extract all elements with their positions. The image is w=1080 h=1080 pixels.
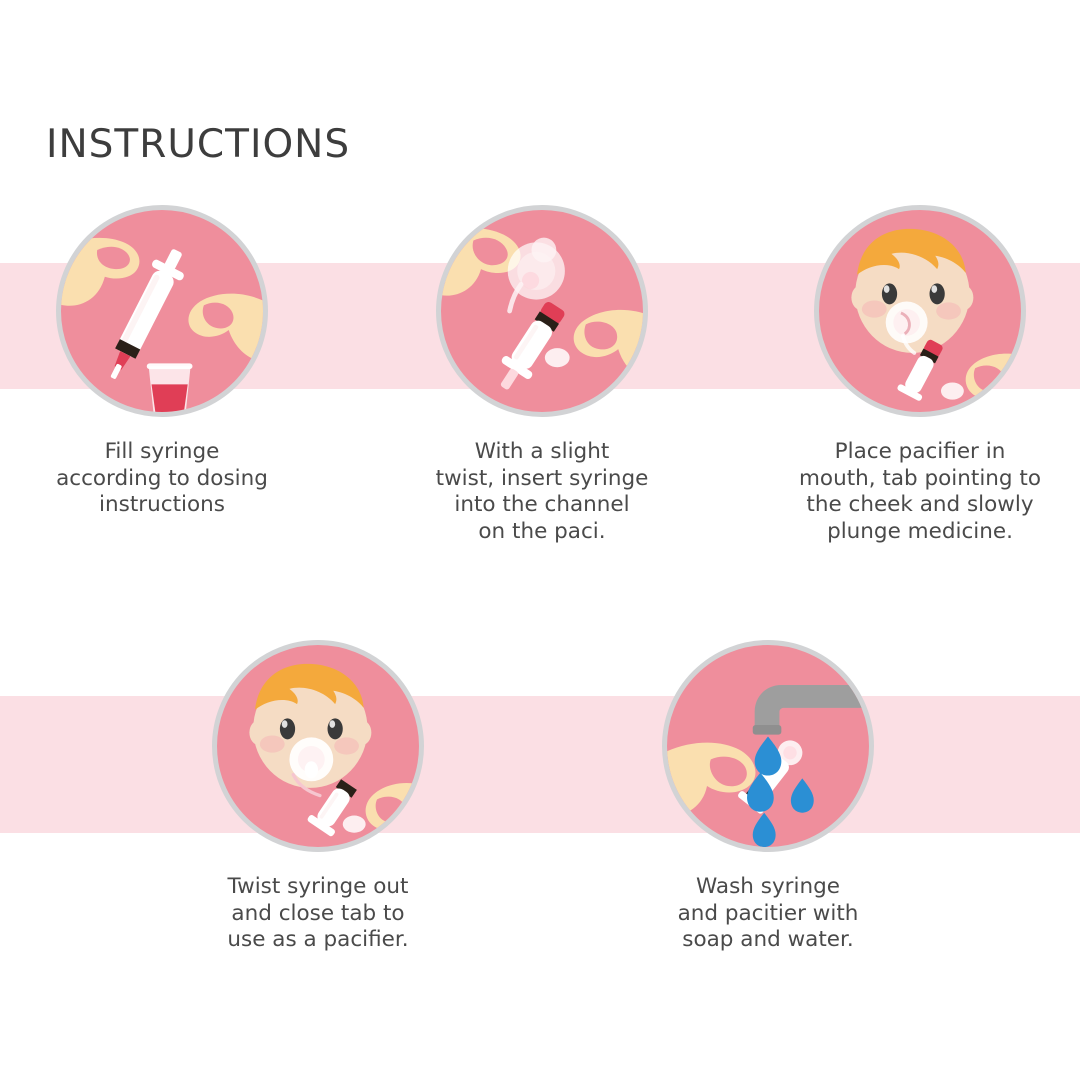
step-1-caption: Fill syringe according to dosing instruc… <box>17 439 307 519</box>
step-4-caption: Twist syringe out and close tab to use a… <box>173 874 463 954</box>
step-5-illustration <box>662 640 874 852</box>
caption-line: mouth, tab pointing to <box>775 466 1065 493</box>
caption-line: according to dosing <box>17 466 307 493</box>
page-title: INSTRUCTIONS <box>46 122 350 167</box>
baby-twist-syringe-out-icon <box>217 645 419 847</box>
step-5-caption: Wash syringe and pacitier with soap and … <box>623 874 913 954</box>
wash-under-faucet-icon <box>667 645 869 847</box>
instructions-infographic: INSTRUCTIONS <box>0 0 1080 1080</box>
caption-line: Twist syringe out <box>173 874 463 901</box>
step-4-illustration <box>212 640 424 852</box>
caption-line: With a slight <box>397 439 687 466</box>
step-3-illustration <box>814 205 1026 417</box>
caption-line: use as a pacifier. <box>173 927 463 954</box>
step-2-caption: With a slight twist, insert syringe into… <box>397 439 687 545</box>
caption-line: into the channel <box>397 492 687 519</box>
baby-pacifier-plunge-icon <box>819 210 1021 412</box>
step-1: Fill syringe according to dosing instruc… <box>12 205 312 519</box>
syringe-into-pacifier-icon <box>441 210 643 412</box>
caption-line: instructions <box>17 492 307 519</box>
caption-line: and close tab to <box>173 901 463 928</box>
step-1-illustration <box>56 205 268 417</box>
step-3-caption: Place pacifier in mouth, tab pointing to… <box>775 439 1065 545</box>
step-3: Place pacifier in mouth, tab pointing to… <box>770 205 1070 545</box>
caption-line: and pacitier with <box>623 901 913 928</box>
step-5: Wash syringe and pacitier with soap and … <box>618 640 918 954</box>
caption-line: Wash syringe <box>623 874 913 901</box>
caption-line: plunge medicine. <box>775 519 1065 546</box>
caption-line: on the paci. <box>397 519 687 546</box>
caption-line: Fill syringe <box>17 439 307 466</box>
caption-line: the cheek and slowly <box>775 492 1065 519</box>
step-2-illustration <box>436 205 648 417</box>
decorative-band-bottom <box>0 696 1080 833</box>
caption-line: Place pacifier in <box>775 439 1065 466</box>
step-2: With a slight twist, insert syringe into… <box>392 205 692 545</box>
caption-line: twist, insert syringe <box>397 466 687 493</box>
caption-line: soap and water. <box>623 927 913 954</box>
syringe-filling-from-cup-icon <box>61 210 263 412</box>
step-4: Twist syringe out and close tab to use a… <box>168 640 468 954</box>
